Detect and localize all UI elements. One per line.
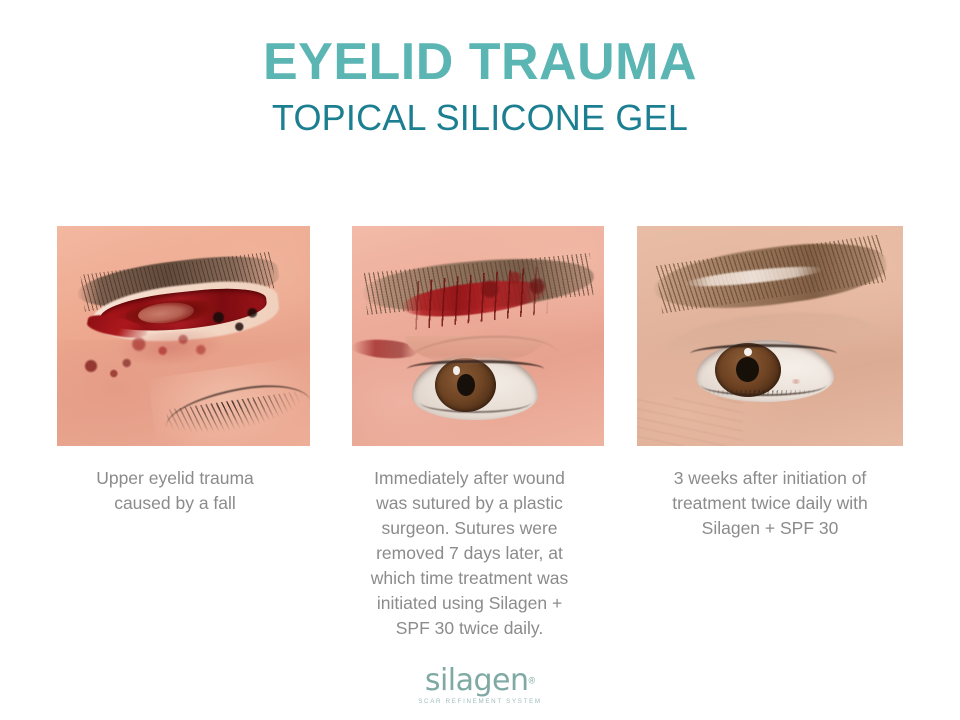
debris-dots [199, 305, 265, 336]
logo-tagline: SCAR REFINEMENT SYSTEM [418, 697, 542, 707]
photo-eyelid-open-laceration [57, 226, 310, 446]
photo-eyelid-sutured [352, 226, 604, 446]
photo-1-content [57, 226, 310, 446]
brand-logo: silagen® SCAR REFINEMENT SYSTEM [0, 666, 960, 708]
pupil [736, 357, 759, 382]
caption-row: Upper eyelid trauma caused by a fall Imm… [40, 466, 920, 641]
blood-specks [72, 354, 148, 385]
photo-eyelid-healed [637, 226, 903, 446]
logo-lockup: silagen® SCAR REFINEMENT SYSTEM [418, 666, 542, 707]
caption-case-3: 3 weeks after initiation of treatment tw… [625, 466, 915, 541]
eye-open [412, 354, 538, 420]
eye-open [696, 340, 834, 402]
tear-duct [790, 379, 802, 385]
skin-crease-lines [637, 398, 743, 446]
registered-trademark-icon: ® [529, 676, 536, 686]
photo-2-content [352, 226, 604, 446]
caption-case-1: Upper eyelid trauma caused by a fall [40, 466, 310, 516]
page-subtitle: TOPICAL SILICONE GEL [0, 96, 960, 140]
title-block: EYELID TRAUMA TOPICAL SILICONE GEL [0, 34, 960, 140]
photo-3-content [637, 226, 903, 446]
upper-lash-line [690, 344, 837, 354]
upper-lash-line [407, 360, 543, 369]
slide-canvas: EYELID TRAUMA TOPICAL SILICONE GEL [0, 0, 960, 720]
logo-wordmark: silagen [425, 666, 529, 696]
page-title: EYELID TRAUMA [0, 34, 960, 90]
photo-row [57, 226, 903, 446]
pupil [457, 374, 475, 397]
logo-wordmark-row: silagen® [418, 666, 542, 696]
caption-case-2: Immediately after wound was sutured by a… [332, 466, 607, 641]
